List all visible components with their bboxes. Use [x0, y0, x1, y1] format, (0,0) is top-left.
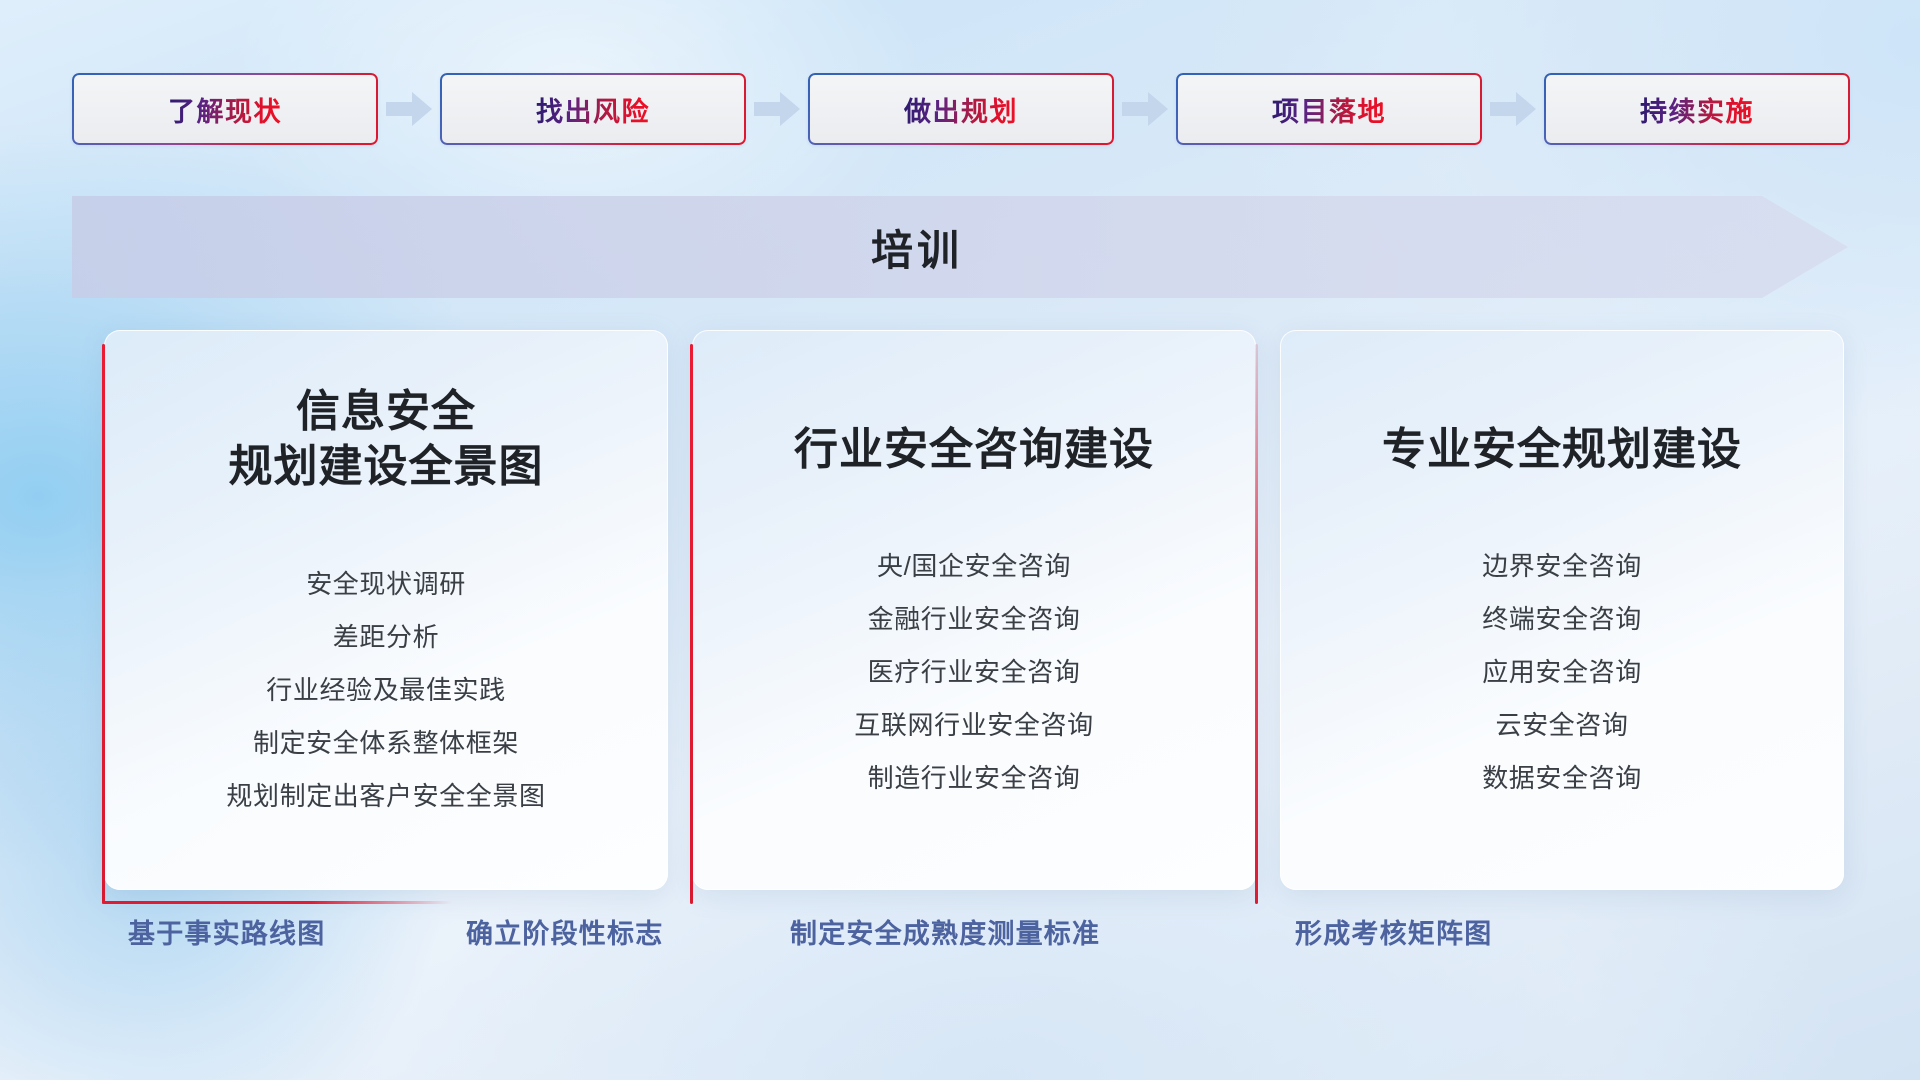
- list-item: 差距分析: [333, 617, 439, 654]
- caption-fact-based-roadmap: 基于事实路线图: [128, 912, 325, 951]
- card-item-list: 边界安全咨询 终端安全咨询 应用安全咨询 云安全咨询 数据安全咨询: [1306, 546, 1818, 795]
- flow-step-label: 做出规划: [904, 90, 1018, 129]
- card-industry-security-consulting[interactable]: 行业安全咨询建设 央/国企安全咨询 金融行业安全咨询 医疗行业安全咨询 互联网行…: [692, 330, 1256, 890]
- flow-step-1[interactable]: 了解现状: [72, 73, 378, 145]
- process-flow: 了解现状 找出风险 做出规划 项目落地: [72, 70, 1852, 148]
- right-arrow-icon: [1482, 92, 1544, 126]
- list-item: 央/国企安全咨询: [877, 546, 1071, 583]
- list-item: 规划制定出客户安全全景图: [226, 776, 545, 813]
- caption-assessment-matrix: 形成考核矩阵图: [1295, 912, 1492, 951]
- caption-maturity-measurement: 制定安全成熟度测量标准: [790, 912, 1100, 951]
- card-title: 专业安全规划建设: [1382, 422, 1742, 477]
- card-accent-rail-left: [690, 344, 693, 904]
- flow-step-label: 项目落地: [1272, 90, 1386, 129]
- card-accent-rail-left: [102, 344, 105, 904]
- flow-step-4[interactable]: 项目落地: [1176, 73, 1482, 145]
- list-item: 数据安全咨询: [1482, 758, 1642, 795]
- list-item: 医疗行业安全咨询: [868, 652, 1081, 689]
- card-item-list: 央/国企安全咨询 金融行业安全咨询 医疗行业安全咨询 互联网行业安全咨询 制造行…: [718, 546, 1230, 795]
- list-item: 金融行业安全咨询: [868, 599, 1081, 636]
- right-arrow-icon: [378, 92, 440, 126]
- list-item: 边界安全咨询: [1482, 546, 1642, 583]
- caption-stage-milestones: 确立阶段性标志: [466, 912, 663, 951]
- card-row: 信息安全 规划建设全景图 安全现状调研 差距分析 行业经验及最佳实践 制定安全体…: [104, 330, 1844, 890]
- card-accent-rail-bottom: [102, 901, 452, 904]
- card-information-security-panorama[interactable]: 信息安全 规划建设全景图 安全现状调研 差距分析 行业经验及最佳实践 制定安全体…: [104, 330, 668, 890]
- flow-step-label: 找出风险: [536, 90, 650, 129]
- list-item: 应用安全咨询: [1482, 652, 1642, 689]
- card-title: 行业安全咨询建设: [794, 422, 1154, 477]
- list-item: 行业经验及最佳实践: [266, 670, 505, 707]
- list-item: 云安全咨询: [1495, 705, 1628, 742]
- card-accent-rail-right: [1255, 344, 1258, 904]
- card-divider: [1332, 503, 1792, 512]
- caption-row: 基于事实路线图 确立阶段性标志 制定安全成熟度测量标准 形成考核矩阵图: [0, 912, 1920, 972]
- training-band: 培训: [72, 196, 1848, 298]
- card-divider: [156, 521, 616, 530]
- card-title: 信息安全 规划建设全景图: [229, 384, 544, 495]
- list-item: 终端安全咨询: [1482, 599, 1642, 636]
- flow-step-label: 持续实施: [1640, 90, 1754, 129]
- training-band-label: 培训: [72, 196, 1762, 298]
- list-item: 互联网行业安全咨询: [854, 705, 1093, 742]
- list-item: 安全现状调研: [306, 564, 466, 601]
- list-item: 制定安全体系整体框架: [253, 723, 519, 760]
- list-item: 制造行业安全咨询: [868, 758, 1081, 795]
- flow-step-2[interactable]: 找出风险: [440, 73, 746, 145]
- card-item-list: 安全现状调研 差距分析 行业经验及最佳实践 制定安全体系整体框架 规划制定出客户…: [130, 564, 642, 813]
- card-professional-security-planning[interactable]: 专业安全规划建设 边界安全咨询 终端安全咨询 应用安全咨询 云安全咨询 数据安全…: [1280, 330, 1844, 890]
- card-divider: [744, 503, 1204, 512]
- right-arrow-icon: [746, 92, 808, 126]
- flow-step-3[interactable]: 做出规划: [808, 73, 1114, 145]
- flow-step-5[interactable]: 持续实施: [1544, 73, 1850, 145]
- slide-canvas: 了解现状 找出风险 做出规划 项目落地: [0, 0, 1920, 1080]
- right-arrow-icon: [1114, 92, 1176, 126]
- flow-step-label: 了解现状: [168, 90, 282, 129]
